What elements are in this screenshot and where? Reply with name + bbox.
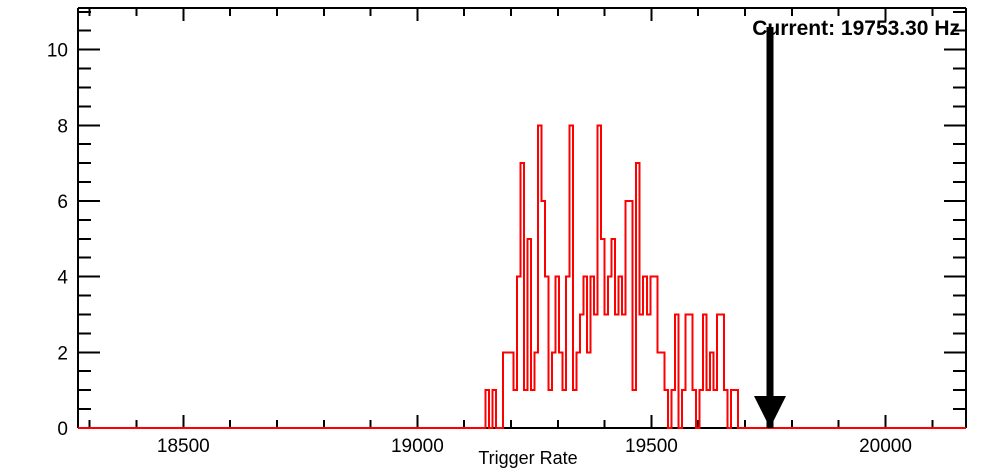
current-value-marker xyxy=(754,27,786,428)
x-tick-label: 18500 xyxy=(157,436,210,457)
y-tick-label: 10 xyxy=(47,41,68,62)
x-tick-label: 19500 xyxy=(625,436,678,457)
histogram-series xyxy=(78,125,966,428)
plot-frame xyxy=(78,8,966,428)
y-tick-label: 4 xyxy=(57,268,68,289)
current-marker-arrowhead xyxy=(754,396,786,428)
histogram-outline xyxy=(78,125,966,428)
y-tick-label: 8 xyxy=(57,116,68,137)
y-tick-label: 0 xyxy=(57,419,68,440)
x-tick-label: 19000 xyxy=(391,436,444,457)
y-tick-label: 2 xyxy=(57,343,68,364)
plot-canvas: 1850019000195002000020500 0246810 Trigge… xyxy=(0,0,996,472)
current-value-label: Current: 19753.30 Hz xyxy=(752,17,960,40)
histogram-figure: 1850019000195002000020500 0246810 Trigge… xyxy=(0,0,996,472)
x-axis-ticks: 1850019000195002000020500 xyxy=(90,8,996,457)
y-axis-ticks: 0246810 xyxy=(47,12,966,440)
y-tick-label: 6 xyxy=(57,192,68,213)
x-axis-title: Trigger Rate xyxy=(478,448,577,468)
x-tick-label: 20000 xyxy=(859,436,912,457)
